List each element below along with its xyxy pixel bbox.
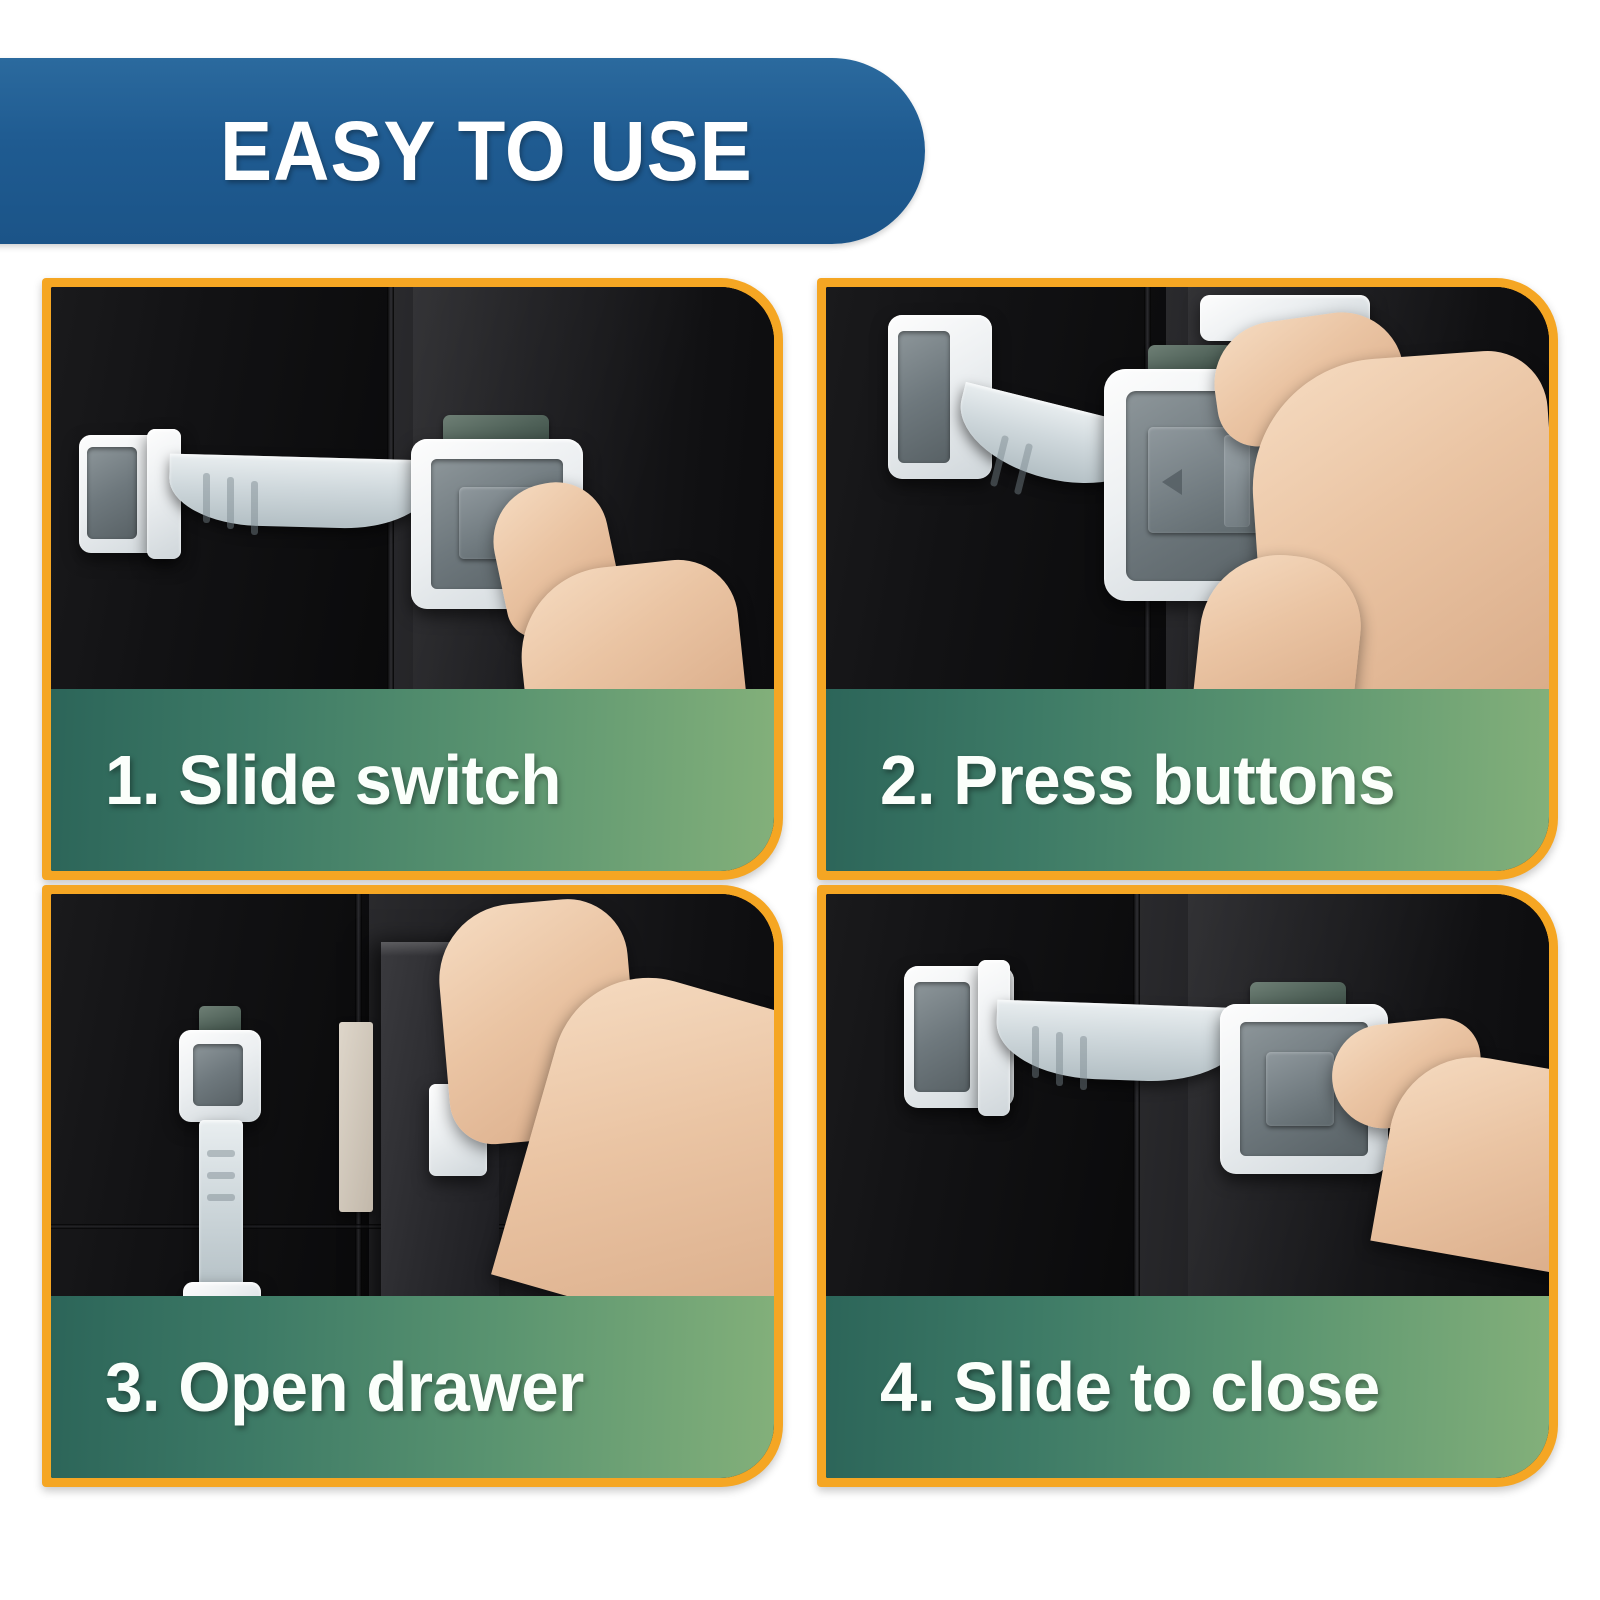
slide-switch-button[interactable] xyxy=(1266,1052,1334,1126)
steps-grid: 1. Slide switch xyxy=(0,278,1600,1600)
lock-latch-tab xyxy=(1224,435,1250,527)
strap-rib xyxy=(251,481,258,535)
step-3-caption-bar: 3. Open drawer xyxy=(51,1296,774,1478)
strap-rib xyxy=(207,1194,235,1201)
step-2-photo xyxy=(826,287,1549,707)
step-panel-3[interactable]: 3. Open drawer xyxy=(42,885,783,1487)
strap-rib xyxy=(203,473,210,523)
lock-face-hanging xyxy=(193,1044,243,1106)
lock-face-left xyxy=(914,982,970,1092)
step-1-caption-text: 1. Slide switch xyxy=(105,745,561,815)
step-panel-1-inner: 1. Slide switch xyxy=(51,287,774,871)
step-panel-4-inner: 4. Slide to close xyxy=(826,894,1549,1478)
step-panel-2-inner: 2. Press buttons xyxy=(826,287,1549,871)
page-title: EASY TO USE xyxy=(220,109,753,193)
step-1-photo xyxy=(51,287,774,707)
cabinet-seam xyxy=(1133,894,1140,1314)
arrow-left-icon xyxy=(1162,469,1182,495)
step-2-caption-bar: 2. Press buttons xyxy=(826,689,1549,871)
step-panel-2[interactable]: 2. Press buttons xyxy=(817,278,1558,880)
step-4-caption-bar: 4. Slide to close xyxy=(826,1296,1549,1478)
step-panel-1[interactable]: 1. Slide switch xyxy=(42,278,783,880)
step-panel-3-inner: 3. Open drawer xyxy=(51,894,774,1478)
strap-rib xyxy=(227,477,234,529)
lock-face-left xyxy=(87,447,137,539)
lock-face-left xyxy=(898,331,950,463)
step-2-caption-text: 2. Press buttons xyxy=(880,745,1395,815)
strap-icon xyxy=(199,1120,243,1298)
step-1-caption-bar: 1. Slide switch xyxy=(51,689,774,871)
strap-rib xyxy=(1056,1032,1063,1086)
strap-rib xyxy=(207,1172,235,1179)
strap-rib xyxy=(207,1150,235,1157)
step-4-photo xyxy=(826,894,1549,1314)
step-3-photo xyxy=(51,894,774,1314)
strap-rib xyxy=(1032,1026,1039,1078)
step-panel-4[interactable]: 4. Slide to close xyxy=(817,885,1558,1487)
step-4-caption-text: 4. Slide to close xyxy=(880,1352,1380,1422)
header-banner: EASY TO USE xyxy=(0,58,925,244)
strap-rib xyxy=(1080,1036,1087,1090)
adhesive-pad-icon xyxy=(339,1022,373,1212)
step-3-caption-text: 3. Open drawer xyxy=(105,1352,584,1422)
